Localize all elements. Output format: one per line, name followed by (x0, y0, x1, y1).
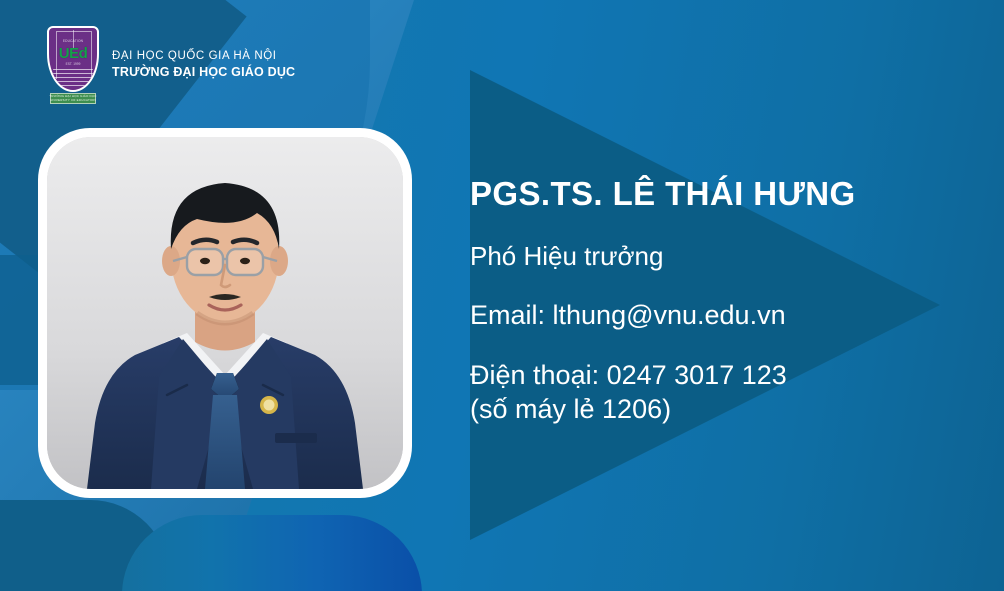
person-email[interactable]: Email: lthung@vnu.edu.vn (470, 300, 970, 331)
shield-micro-text-top: EDUCATION (49, 39, 97, 43)
contact-info: PGS.TS. LÊ THÁI HƯNG Phó Hiệu trưởng Ema… (470, 176, 970, 427)
phone-number: Điện thoại: 0247 3017 123 (470, 360, 787, 390)
person-role: Phó Hiệu trưởng (470, 242, 970, 272)
shield-book-pages-icon (49, 64, 97, 86)
person-name: PGS.TS. LÊ THÁI HƯNG (470, 176, 970, 212)
brand-text: ĐẠI HỌC QUỐC GIA HÀ NỘI TRƯỜNG ĐẠI HỌC G… (112, 49, 295, 80)
ued-shield-logo-icon: EDUCATION UEd EST. 1999 TRƯỜNG ĐẠI HỌC G… (44, 26, 102, 104)
brand-header: EDUCATION UEd EST. 1999 TRƯỜNG ĐẠI HỌC G… (44, 26, 295, 104)
portrait-card (38, 128, 412, 498)
portrait-illustration (47, 137, 403, 489)
brand-university-name: ĐẠI HỌC QUỐC GIA HÀ NỘI (112, 49, 295, 64)
brand-school-name: TRƯỜNG ĐẠI HỌC GIÁO DỤC (112, 64, 295, 80)
contact-card-slide: EDUCATION UEd EST. 1999 TRƯỜNG ĐẠI HỌC G… (0, 0, 1004, 591)
ribbon-line-2: UNIVERSITY OF EDUCATION (50, 99, 96, 102)
background-pill-shape (122, 515, 422, 591)
portrait-image (47, 137, 403, 489)
shield-monogram: UEd (49, 46, 97, 61)
phone-extension: (số máy lẻ 1206) (470, 393, 970, 427)
shield-ribbon: TRƯỜNG ĐẠI HỌC GIÁO DỤC UNIVERSITY OF ED… (50, 93, 96, 104)
shield-body: EDUCATION UEd EST. 1999 (47, 26, 99, 92)
person-phone: Điện thoại: 0247 3017 123 (số máy lẻ 120… (470, 359, 970, 427)
